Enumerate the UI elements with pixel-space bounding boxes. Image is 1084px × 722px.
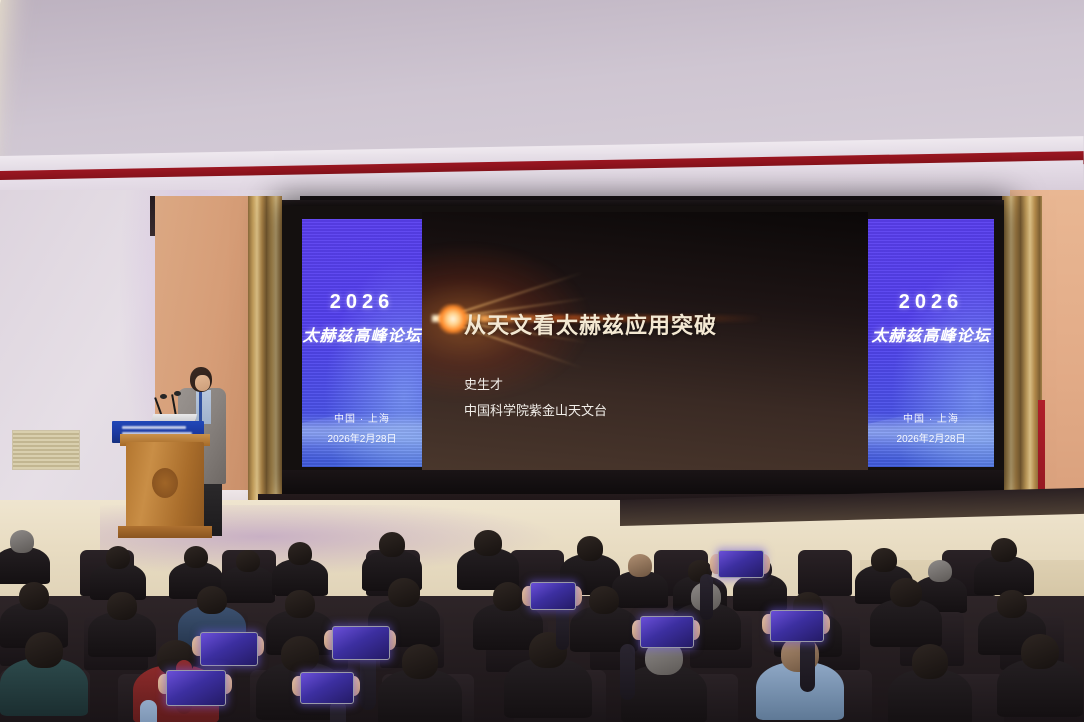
vaulted-ceiling	[0, 0, 1084, 196]
audience-phone-screen	[770, 610, 824, 642]
audience-member-head	[281, 636, 319, 672]
audience-arm	[556, 606, 569, 650]
forum-title-right: 太赫兹高峰论坛	[871, 322, 990, 346]
forum-title-left: 太赫兹高峰论坛	[302, 322, 421, 346]
audience-phone-screen	[200, 632, 258, 666]
audience-phone-screen	[166, 670, 226, 706]
audience-member-head	[991, 538, 1017, 562]
auditorium-photo: 2026 太赫兹高峰论坛 中国 · 上海 2026年2月28日 从天文看太赫兹应…	[0, 0, 1084, 722]
audience-member-head	[589, 586, 619, 614]
audience-member-head	[184, 546, 208, 568]
audience-arm	[360, 654, 376, 710]
audience-member-head	[493, 582, 524, 611]
audience-member-head	[474, 530, 501, 556]
forum-date-left: 2026年2月28日	[302, 430, 422, 445]
audience-member-head	[912, 644, 949, 679]
forum-city-right: 中国 · 上海	[868, 410, 994, 425]
audience-member-head	[285, 590, 314, 618]
forum-year-left: 2026	[330, 291, 395, 314]
audience-arm	[700, 574, 713, 620]
forum-year-right: 2026	[899, 291, 964, 314]
audience-member-head	[25, 632, 63, 668]
slide-affiliation: 中国科学院紫金山天文台	[464, 400, 607, 419]
stage-curtain-left	[248, 196, 282, 526]
led-panel-right: 2026 太赫兹高峰论坛 中国 · 上海 2026年2月28日	[868, 219, 994, 467]
forum-city-left: 中国 · 上海	[302, 410, 422, 425]
speaker-lanyard	[199, 392, 202, 422]
audience-member-head	[19, 582, 49, 610]
audience-phone-screen	[718, 550, 764, 578]
microphone-head-1	[160, 394, 167, 399]
slide-author: 史生才	[464, 374, 503, 393]
audience-arm	[620, 644, 635, 700]
audience-phone-screen	[332, 626, 390, 660]
forum-date-right: 2026年2月28日	[868, 430, 994, 445]
audience-member-head	[288, 542, 312, 565]
audience-arm	[800, 638, 815, 692]
stage-curtain-right	[1002, 196, 1042, 526]
audience-member-head	[106, 546, 130, 569]
audience-member-head	[10, 530, 34, 553]
podium-emblem	[152, 468, 178, 498]
slide-title: 从天文看太赫兹应用突破	[464, 308, 717, 340]
audience-member-head	[236, 550, 260, 572]
presentation-slide: 从天文看太赫兹应用突破 史生才 中国科学院紫金山天文台	[422, 212, 868, 474]
audience-member-head	[107, 592, 136, 620]
audience-member-head	[928, 560, 952, 582]
wall-vent-grille	[12, 430, 80, 470]
audience-member-head	[890, 578, 921, 607]
auditorium-seat	[798, 550, 852, 596]
audience-member-head	[379, 532, 406, 557]
audience-phone-screen	[300, 672, 354, 704]
audience	[0, 520, 1084, 722]
microphone-head-2	[174, 391, 181, 396]
audience-member-head	[388, 578, 419, 607]
audience-phone-screen	[530, 582, 576, 610]
audience-member-head	[197, 586, 227, 614]
speaker-face	[195, 375, 210, 391]
audience-member-head	[402, 644, 439, 679]
audience-member-head	[628, 554, 652, 577]
audience-member-head	[577, 536, 604, 561]
audience-member-head	[997, 590, 1026, 618]
audience-phone-screen	[640, 616, 694, 648]
led-panel-left: 2026 太赫兹高峰论坛 中国 · 上海 2026年2月28日	[302, 219, 422, 467]
audience-member-head	[1021, 634, 1058, 669]
audience-arm	[140, 700, 157, 722]
audience-member-head	[871, 548, 896, 572]
